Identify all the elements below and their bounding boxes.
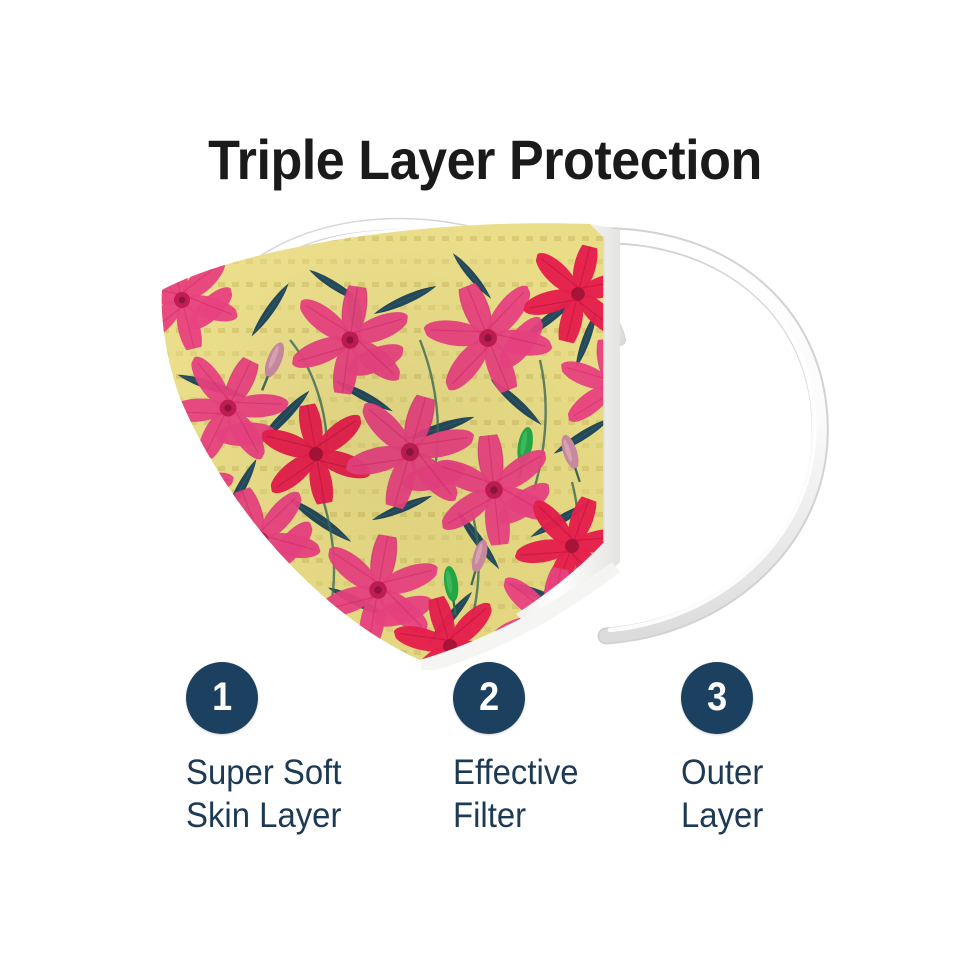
feature-label-3: Outer Layer: [681, 752, 897, 837]
page-title: Triple Layer Protection: [34, 132, 936, 188]
face-mask-illustration: [120, 190, 850, 670]
feature-item-3: 3 Outer Layer: [681, 662, 911, 837]
feature-item-2: 2 Effective Filter: [453, 662, 683, 837]
product-infographic: Triple Layer Protection: [0, 0, 970, 971]
feature-badge-2: 2: [453, 662, 525, 734]
mask-body: [120, 190, 850, 670]
feature-label-2: Effective Filter: [453, 752, 669, 837]
feature-badge-number-1: 1: [212, 677, 232, 717]
feature-badge-3: 3: [681, 662, 753, 734]
feature-badge-number-3: 3: [707, 677, 727, 717]
feature-badge-number-2: 2: [479, 677, 499, 717]
feature-item-1: 1 Super Soft Skin Layer: [186, 662, 416, 837]
right-ear-loop: [590, 236, 820, 636]
feature-label-1: Super Soft Skin Layer: [186, 752, 402, 837]
feature-list: 1 Super Soft Skin Layer 2 Effective Filt…: [0, 662, 970, 862]
feature-badge-1: 1: [186, 662, 258, 734]
